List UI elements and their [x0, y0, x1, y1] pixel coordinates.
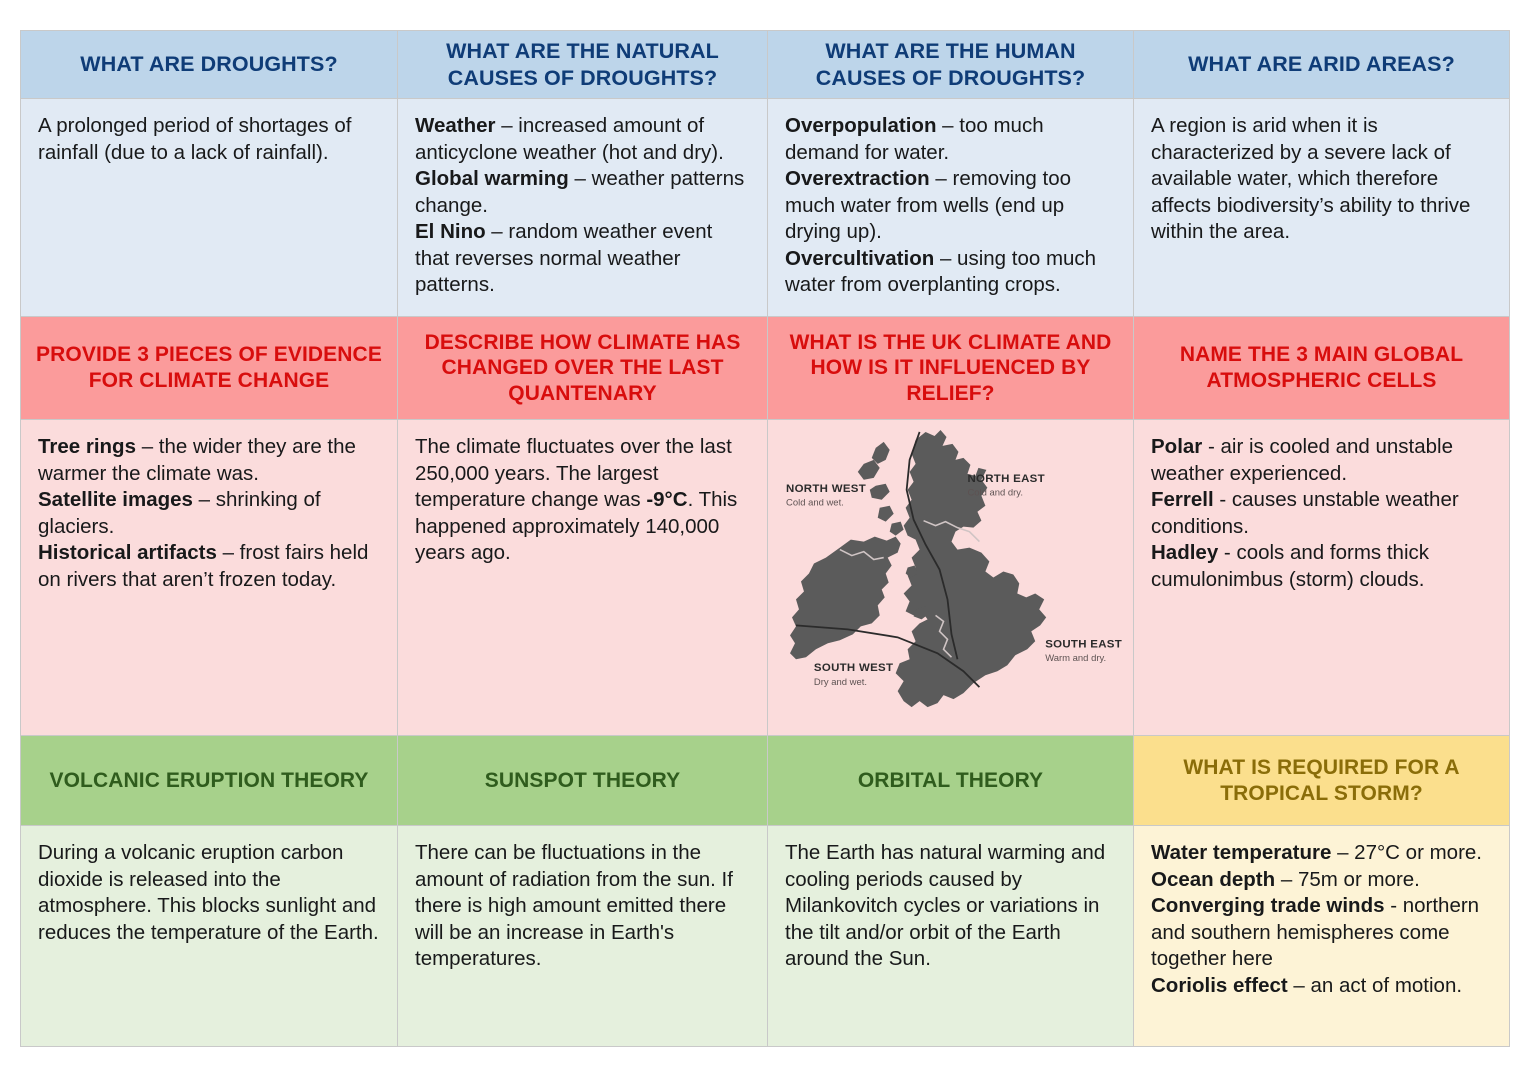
card-body-what-are-droughts: A prolonged period of shortages of rainf… — [21, 99, 398, 317]
segment-text: – 27°C or more. — [1331, 841, 1482, 864]
segment-term: Global warming — [415, 167, 569, 190]
map-label-south-east-name: SOUTH EAST — [1045, 638, 1122, 650]
segment-term: Weather — [415, 114, 496, 137]
card-header-what-are-droughts: WHAT ARE DROUGHTS? — [21, 31, 398, 99]
segment-term: Converging trade winds — [1151, 894, 1385, 917]
card-body-atmospheric-cells: Polar - air is cooled and unstable weath… — [1134, 420, 1510, 736]
segment-term: Polar — [1151, 435, 1202, 458]
segment-text: – 75m or more. — [1275, 868, 1420, 891]
segment-text: A region is arid when it is characterize… — [1151, 114, 1470, 243]
segment-term: Ocean depth — [1151, 868, 1275, 891]
segment-term: Coriolis effect — [1151, 974, 1288, 997]
map-island-outer-hebrides — [872, 442, 890, 464]
map-island-arran — [890, 522, 904, 536]
card-body-quantenary-climate: The climate fluctuates over the last 250… — [398, 420, 768, 736]
map-island-skye — [858, 460, 880, 480]
card-header-arid-areas: WHAT ARE ARID AREAS? — [1134, 31, 1510, 99]
segment-term: Water temperature — [1151, 841, 1331, 864]
segment-term: El Nino — [415, 220, 486, 243]
card-body-sunspot-theory: There can be fluctuations in the amount … — [398, 826, 768, 1047]
card-header-sunspot-theory: SUNSPOT THEORY — [398, 736, 768, 826]
card-header-volcanic-eruption-theory: VOLCANIC ERUPTION THEORY — [21, 736, 398, 826]
segment-term: Ferrell — [1151, 488, 1214, 511]
map-label-north-west-desc: Cold and wet. — [786, 498, 844, 509]
segment-text: – an act of motion. — [1288, 974, 1462, 997]
card-body-tropical-storm-requirements: Water temperature – 27°C or more. Ocean … — [1134, 826, 1510, 1047]
card-body-human-causes: Overpopulation – too much demand for wat… — [768, 99, 1134, 317]
segment-term: Satellite images — [38, 488, 193, 511]
card-body-evidence-climate-change: Tree rings – the wider they are the warm… — [21, 420, 398, 736]
segment-text: There can be fluctuations in the amount … — [415, 841, 733, 970]
map-island-islay — [878, 506, 894, 522]
segment-term: Overpopulation — [785, 114, 936, 137]
card-header-atmospheric-cells: NAME THE 3 MAIN GLOBAL ATMOSPHERIC CELLS — [1134, 317, 1510, 420]
segment-term: Tree rings — [38, 435, 136, 458]
card-header-human-causes: WHAT ARE THE HUMAN CAUSES OF DROUGHTS? — [768, 31, 1134, 99]
card-body-uk-climate-relief: NORTH WEST Cold and wet. NORTH EAST Cold… — [768, 420, 1134, 736]
card-header-natural-causes: WHAT ARE THE NATURAL CAUSES OF DROUGHTS? — [398, 31, 768, 99]
segment-term: -9°C — [646, 488, 687, 511]
segment-term: Historical artifacts — [38, 541, 217, 564]
map-label-south-west-name: SOUTH WEST — [814, 662, 893, 674]
card-header-evidence-climate-change: PROVIDE 3 PIECES OF EVIDENCE FOR CLIMATE… — [21, 317, 398, 420]
card-body-orbital-theory: The Earth has natural warming and coolin… — [768, 826, 1134, 1047]
map-label-north-east-name: NORTH EAST — [967, 473, 1044, 485]
map-island-mull — [870, 484, 890, 500]
segment-text: A prolonged period of shortages of rainf… — [38, 114, 351, 164]
card-body-arid-areas: A region is arid when it is characterize… — [1134, 99, 1510, 317]
map-land-great-britain — [896, 430, 1047, 707]
card-header-orbital-theory: ORBITAL THEORY — [768, 736, 1134, 826]
map-label-north-west-name: NORTH WEST — [786, 483, 866, 495]
segment-text: The Earth has natural warming and coolin… — [785, 841, 1105, 970]
map-land-ireland — [790, 537, 901, 660]
map-label-south-east-desc: Warm and dry. — [1045, 653, 1106, 664]
card-header-quantenary-climate: DESCRIBE HOW CLIMATE HAS CHANGED OVER TH… — [398, 317, 768, 420]
map-label-south-west-desc: Dry and wet. — [814, 677, 867, 688]
card-header-tropical-storm-requirements: WHAT IS REQUIRED FOR A TROPICAL STORM? — [1134, 736, 1510, 826]
uk-climate-map: NORTH WEST Cold and wet. NORTH EAST Cold… — [768, 420, 1133, 735]
segment-term: Hadley — [1151, 541, 1218, 564]
segment-term: Overcultivation — [785, 247, 934, 270]
segment-term: Overextraction — [785, 167, 930, 190]
knowledge-organiser-grid: WHAT ARE DROUGHTS? WHAT ARE THE NATURAL … — [20, 30, 1510, 1047]
segment-text: During a volcanic eruption carbon dioxid… — [38, 841, 379, 944]
card-body-natural-causes: Weather – increased amount of anticyclon… — [398, 99, 768, 317]
card-header-uk-climate-relief: WHAT IS THE UK CLIMATE AND HOW IS IT INF… — [768, 317, 1134, 420]
map-label-north-east-desc: Cold and dry. — [967, 488, 1023, 499]
card-body-volcanic-eruption-theory: During a volcanic eruption carbon dioxid… — [21, 826, 398, 1047]
